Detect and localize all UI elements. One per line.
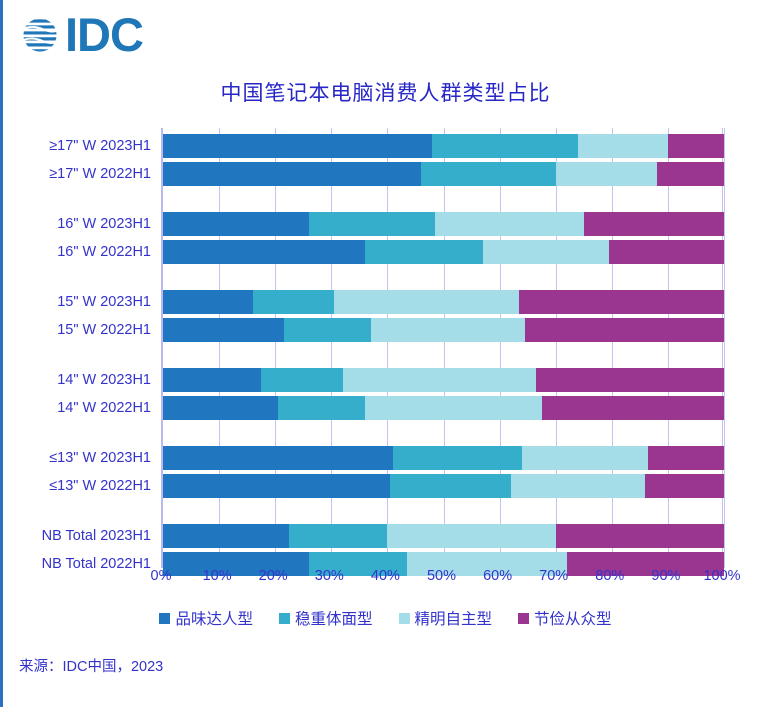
chart-title: 中国笔记本电脑消费人群类型占比 <box>3 77 765 107</box>
bar-row[interactable] <box>163 240 722 264</box>
chart-legend: 品味达人型稳重体面型精明自主型节俭从众型 <box>3 607 765 629</box>
gridline-30 <box>331 128 332 568</box>
bar-segment-4[interactable] <box>584 212 724 236</box>
bar-row[interactable] <box>163 446 722 470</box>
bar-segment-4[interactable] <box>657 162 724 186</box>
y-axis-category-labels: ≥17" W 2023H1≥17" W 2022H116" W 2023H116… <box>3 128 161 568</box>
idc-globe-logo-icon <box>17 12 63 58</box>
x-tick-label: 90% <box>651 568 680 584</box>
x-axis-tick-labels: 0%10%20%30%40%50%60%70%80%90%100% <box>161 568 724 592</box>
legend-label: 品味达人型 <box>175 607 253 629</box>
legend-swatch-icon <box>159 613 170 624</box>
gridline-20 <box>275 128 276 568</box>
x-tick-label: 20% <box>259 568 288 584</box>
bar-segment-3[interactable] <box>435 212 584 236</box>
bar-segment-1[interactable] <box>163 134 432 158</box>
bar-segment-1[interactable] <box>163 524 289 548</box>
plot-area <box>161 128 722 568</box>
gridline-10 <box>219 128 220 568</box>
bar-segment-3[interactable] <box>511 474 646 498</box>
y-axis-label: 16" W 2022H1 <box>57 245 151 260</box>
bar-segment-1[interactable] <box>163 368 261 392</box>
bar-row[interactable] <box>163 474 722 498</box>
legend-label: 节俭从众型 <box>534 607 612 629</box>
gridline-60 <box>500 128 501 568</box>
bar-segment-4[interactable] <box>645 474 724 498</box>
y-axis-label: 16" W 2023H1 <box>57 217 151 232</box>
bar-segment-4[interactable] <box>668 134 724 158</box>
bar-segment-2[interactable] <box>284 318 371 342</box>
legend-item-1[interactable]: 品味达人型 <box>159 607 253 629</box>
bar-row[interactable] <box>163 212 722 236</box>
bar-segment-1[interactable] <box>163 446 393 470</box>
bar-row[interactable] <box>163 396 722 420</box>
bar-row[interactable] <box>163 134 722 158</box>
gridline-80 <box>612 128 613 568</box>
x-tick-label: 50% <box>427 568 456 584</box>
legend-label: 精明自主型 <box>415 607 493 629</box>
bar-segment-2[interactable] <box>261 368 342 392</box>
bar-segment-4[interactable] <box>648 446 724 470</box>
gridline-40 <box>387 128 388 568</box>
bar-row[interactable] <box>163 368 722 392</box>
bar-row[interactable] <box>163 162 722 186</box>
bar-segment-4[interactable] <box>556 524 724 548</box>
bar-segment-3[interactable] <box>556 162 657 186</box>
y-axis-label: NB Total 2022H1 <box>42 557 151 572</box>
y-axis-label: 14" W 2022H1 <box>57 401 151 416</box>
bar-segment-2[interactable] <box>393 446 522 470</box>
bar-segment-2[interactable] <box>390 474 511 498</box>
bar-segment-3[interactable] <box>365 396 542 420</box>
y-axis-label: NB Total 2023H1 <box>42 529 151 544</box>
bar-segment-2[interactable] <box>309 212 435 236</box>
gridline-50 <box>444 128 445 568</box>
plot-right-edge <box>722 128 723 568</box>
bar-segment-3[interactable] <box>578 134 668 158</box>
bar-segment-2[interactable] <box>421 162 556 186</box>
idc-logo-text: IDC <box>65 12 143 58</box>
bar-segment-4[interactable] <box>542 396 724 420</box>
bar-segment-3[interactable] <box>522 446 648 470</box>
bar-segment-1[interactable] <box>163 318 284 342</box>
bar-row[interactable] <box>163 290 722 314</box>
x-tick-label: 0% <box>151 568 172 584</box>
bar-segment-2[interactable] <box>432 134 578 158</box>
bar-row[interactable] <box>163 318 722 342</box>
legend-label: 稳重体面型 <box>295 607 373 629</box>
source-note: 来源：IDC中国，2023 <box>19 655 163 676</box>
legend-item-2[interactable]: 稳重体面型 <box>279 607 373 629</box>
bar-segment-1[interactable] <box>163 474 390 498</box>
bar-segment-4[interactable] <box>609 240 724 264</box>
chart-plot-wrapper: ≥17" W 2023H1≥17" W 2022H116" W 2023H116… <box>3 128 765 568</box>
y-axis-label: ≥17" W 2022H1 <box>49 167 151 182</box>
y-axis-label: 15" W 2022H1 <box>57 323 151 338</box>
gridline-100 <box>724 128 725 568</box>
bar-segment-3[interactable] <box>343 368 537 392</box>
y-axis-label: ≤13" W 2023H1 <box>49 451 151 466</box>
bar-segment-2[interactable] <box>289 524 387 548</box>
x-tick-label: 80% <box>595 568 624 584</box>
x-tick-label: 100% <box>703 568 740 584</box>
bar-row[interactable] <box>163 524 722 548</box>
gridline-70 <box>556 128 557 568</box>
legend-swatch-icon <box>518 613 529 624</box>
bar-segment-4[interactable] <box>536 368 724 392</box>
x-tick-label: 10% <box>203 568 232 584</box>
bar-segment-1[interactable] <box>163 396 278 420</box>
bar-segment-2[interactable] <box>365 240 483 264</box>
y-axis-label: ≥17" W 2023H1 <box>49 139 151 154</box>
legend-item-3[interactable]: 精明自主型 <box>399 607 493 629</box>
y-axis-label: 15" W 2023H1 <box>57 295 151 310</box>
bar-segment-3[interactable] <box>371 318 525 342</box>
legend-item-4[interactable]: 节俭从众型 <box>518 607 612 629</box>
x-tick-label: 70% <box>539 568 568 584</box>
idc-logo: IDC <box>17 12 143 58</box>
bar-segment-3[interactable] <box>334 290 519 314</box>
x-tick-label: 30% <box>315 568 344 584</box>
legend-swatch-icon <box>399 613 410 624</box>
bar-segment-3[interactable] <box>483 240 609 264</box>
x-tick-label: 60% <box>483 568 512 584</box>
chart-page: IDC 中国笔记本电脑消费人群类型占比 ≥17" W 2023H1≥17" W … <box>0 0 765 707</box>
bar-segment-2[interactable] <box>253 290 334 314</box>
y-axis-label: 14" W 2023H1 <box>57 373 151 388</box>
bar-segment-2[interactable] <box>278 396 365 420</box>
bar-segment-4[interactable] <box>525 318 724 342</box>
bar-segment-3[interactable] <box>387 524 555 548</box>
legend-swatch-icon <box>279 613 290 624</box>
bar-segment-4[interactable] <box>519 290 724 314</box>
gridline-90 <box>668 128 669 568</box>
x-tick-label: 40% <box>371 568 400 584</box>
bar-segment-1[interactable] <box>163 290 253 314</box>
bar-segment-1[interactable] <box>163 212 309 236</box>
bar-segment-1[interactable] <box>163 162 421 186</box>
y-axis-label: ≤13" W 2022H1 <box>49 479 151 494</box>
bar-segment-1[interactable] <box>163 240 365 264</box>
